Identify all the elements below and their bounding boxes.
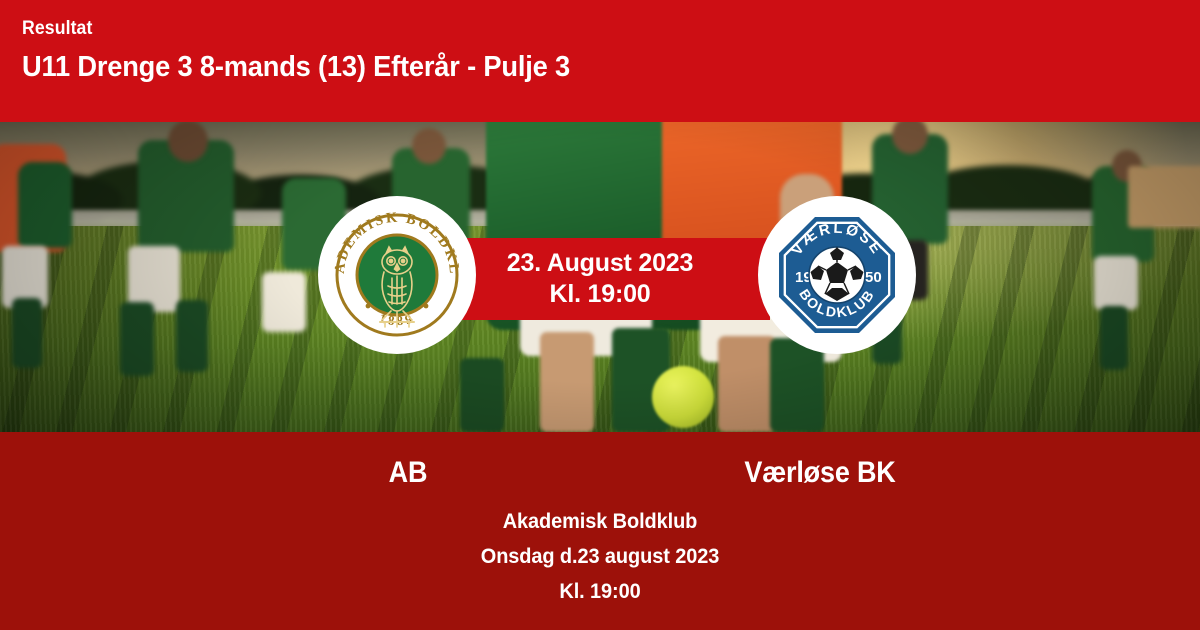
home-club-crest: AKADEMISK BOLDKLUB 1889 [318, 196, 476, 354]
header-bar: Resultat U11 Drenge 3 8-mands (13) Efter… [0, 0, 1200, 122]
player-leg [770, 338, 824, 432]
player-leg [540, 332, 594, 432]
football [652, 366, 714, 428]
page-title: U11 Drenge 3 8-mands (13) Efterår - Pulj… [22, 49, 1129, 85]
player-silhouette [120, 302, 154, 376]
team-names-row: AB Værløse BK [0, 450, 1200, 496]
match-date: 23. August 2023 [430, 248, 770, 279]
match-info-time: Kl. 19:00 [344, 574, 857, 609]
player-silhouette [12, 298, 42, 368]
svg-text:50: 50 [865, 269, 882, 286]
lower-panel: AB Værløse BK Akademisk Boldklub Onsdag … [0, 432, 1200, 630]
match-info-block: Akademisk Boldklub Onsdag d.23 august 20… [330, 504, 870, 609]
kicker-label: Resultat [22, 18, 1118, 40]
player-silhouette [262, 272, 306, 332]
player-leg [718, 336, 776, 432]
player-silhouette [176, 300, 208, 372]
match-time: Kl. 19:00 [430, 279, 770, 310]
player-sock [460, 358, 504, 432]
player-head [412, 128, 446, 164]
player-silhouette [1100, 306, 1128, 370]
date-banner-text: 23. August 2023 Kl. 19:00 [430, 248, 770, 310]
date-banner: 23. August 2023 Kl. 19:00 [430, 238, 770, 320]
akademisk-boldklub-logo-icon: AKADEMISK BOLDKLUB 1889 [322, 200, 472, 350]
match-info-day: Onsdag d.23 august 2023 [344, 539, 857, 574]
match-info-venue: Akademisk Boldklub [344, 504, 857, 539]
home-team-name: AB [255, 450, 561, 496]
away-team-name: Værløse BK [667, 450, 973, 496]
vaerloese-boldklub-logo-icon: VÆRLØSE BOLDKLUB 19 50 [762, 200, 912, 350]
photo-building [1128, 166, 1200, 228]
away-club-crest: VÆRLØSE BOLDKLUB 19 50 [758, 196, 916, 354]
match-result-card: Resultat U11 Drenge 3 8-mands (13) Efter… [0, 0, 1200, 630]
player-silhouette [1094, 256, 1138, 310]
player-silhouette [18, 162, 72, 248]
